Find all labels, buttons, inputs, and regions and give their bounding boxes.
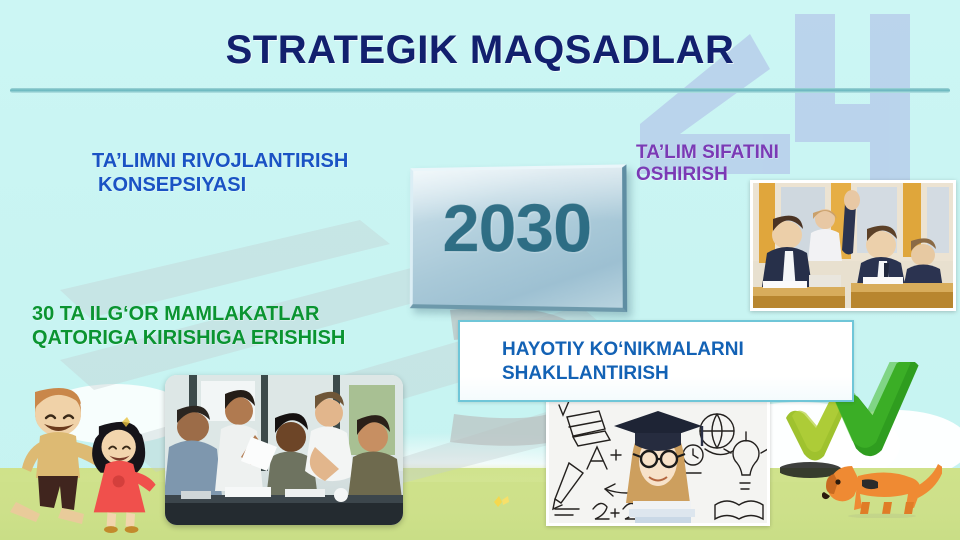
page-title: STRATEGIK MAQSADLAR xyxy=(0,28,960,73)
life-skills-line2: SHAKLLANTIRISH xyxy=(502,362,842,386)
plaque-2030: 2030 xyxy=(410,164,627,312)
callout-top30: 30 TA ILG‘OR MAMLAKATLAR QATORIGA KIRISH… xyxy=(32,303,432,350)
photo-team xyxy=(165,375,403,525)
slide-canvas: STRATEGIK MAQSADLAR 2030 TA’LIMNI RIVOJL… xyxy=(0,0,960,540)
team-meeting-illustration xyxy=(165,375,403,525)
title-divider xyxy=(10,88,950,93)
cartoon-children xyxy=(0,380,175,540)
callout-top30-line2: QATORIGA KIRISHIGA ERISHISH xyxy=(32,327,432,351)
callout-concept: TA’LIMNI RIVOJLANTIRISH KONSEPSIYASI xyxy=(92,150,422,197)
callout-concept-line2: KONSEPSIYASI xyxy=(98,174,422,198)
graduate-illustration xyxy=(549,397,767,523)
classroom-illustration xyxy=(753,183,953,308)
life-skills-line1: HAYOTIY KO‘NIKMALARNI xyxy=(502,338,842,362)
cartoon-girl xyxy=(92,422,156,533)
sparkle-icon xyxy=(488,492,514,512)
cartoon-dog xyxy=(822,454,942,518)
plaque-number: 2030 xyxy=(410,187,627,267)
callout-concept-line1: TA’LIMNI RIVOJLANTIRISH xyxy=(92,150,422,174)
callout-quality-line1: TA’LIM SIFATINI xyxy=(636,142,896,164)
sparkle-icon xyxy=(118,414,140,430)
photo-grad xyxy=(546,394,770,526)
photo-classroom xyxy=(750,180,956,311)
life-skills-box: HAYOTIY KO‘NIKMALARNI SHAKLLANTIRISH xyxy=(458,320,854,402)
life-skills-text: HAYOTIY KO‘NIKMALARNI SHAKLLANTIRISH xyxy=(502,338,842,386)
callout-top30-line1: 30 TA ILG‘OR MAMLAKATLAR xyxy=(32,303,432,327)
